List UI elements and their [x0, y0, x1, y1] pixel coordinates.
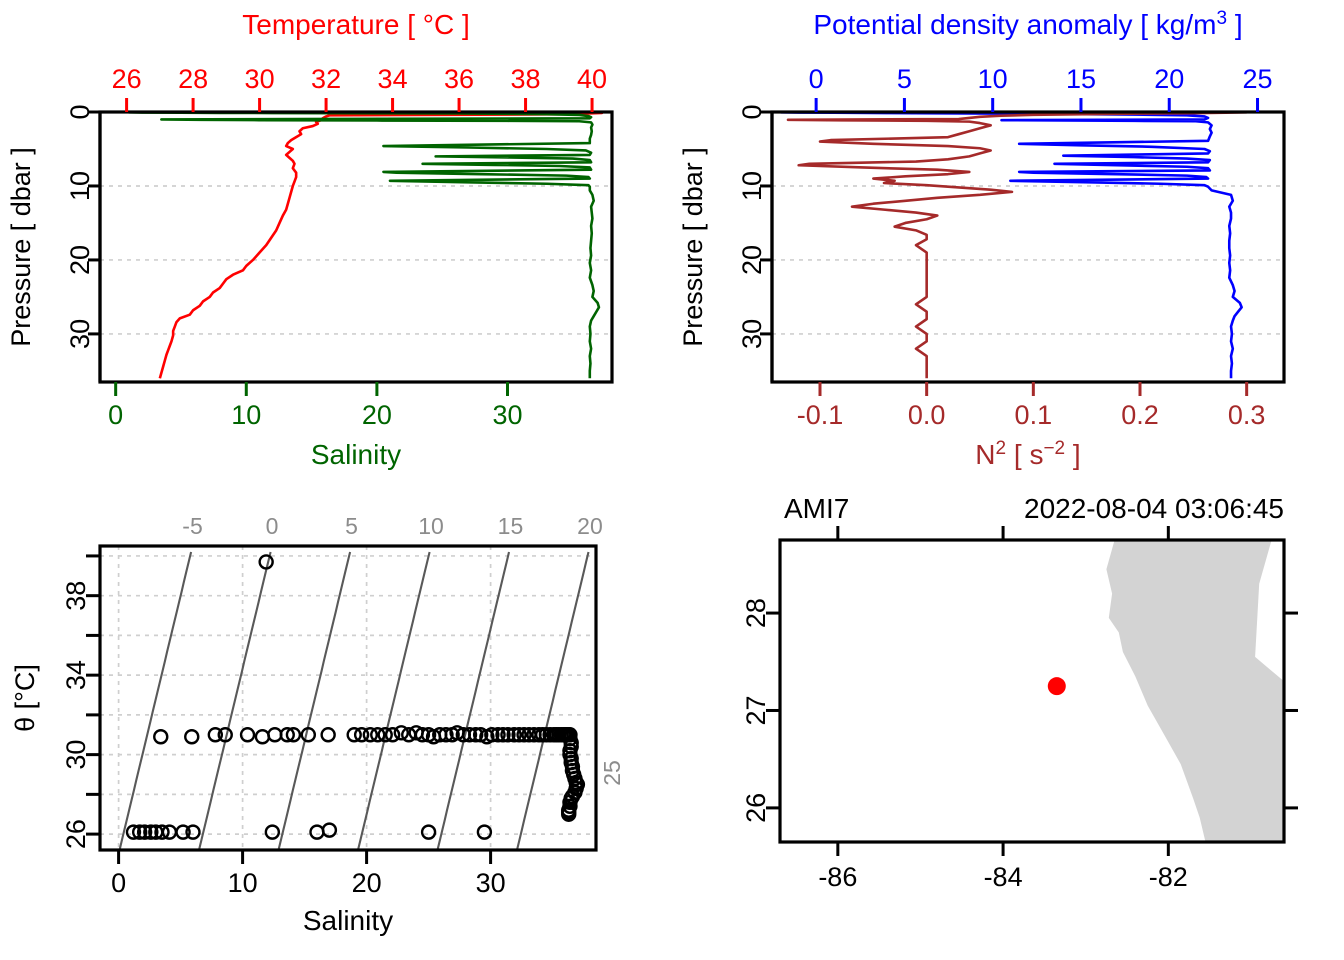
dn-profile-yaxis-title: Pressure [ dbar ]: [678, 147, 708, 347]
dn-profile-xtick-bottom-label: -0.1: [797, 400, 844, 430]
ts-profile-xtick-top-label: 38: [511, 64, 541, 94]
ts-profile-series-salinity: [129, 112, 599, 378]
ts-profile-ytick-label: 30: [65, 319, 95, 349]
n2-title-sup-2: −2: [1043, 438, 1065, 459]
ts-isopycnal-label: -5: [182, 513, 202, 539]
ts-ytick-label: 38: [61, 581, 91, 611]
ts-profile-xtick-top-label: 36: [444, 64, 474, 94]
ts-profile-xaxis-top-title: Temperature [ °C ]: [242, 9, 470, 40]
dn-profile-xtick-top-label: 15: [1066, 64, 1096, 94]
panel-ts-diagram: -5051015202526303438θ [°C]0102030Salinit…: [0, 480, 672, 960]
ts-isopycnal-line: [597, 552, 669, 850]
dn-profile-xtick-bottom-label: 0.0: [908, 400, 946, 430]
ts-profile-xtick-top-label: 28: [178, 64, 208, 94]
ts-ytick-label: 34: [61, 660, 91, 690]
ts-xtick-label: 20: [352, 868, 382, 898]
map-plot-area: -86-84-82262728AMI72022-08-04 03:06:45: [741, 493, 1298, 892]
ts-isopycnal-line: [438, 552, 510, 850]
ts-ytick-label: 30: [61, 740, 91, 770]
density-title-main: Potential density anomaly [ kg/m: [813, 9, 1216, 40]
map-xtick-label: -86: [818, 862, 857, 892]
ts-xtick-label: 30: [476, 868, 506, 898]
ts-plot-box: [100, 546, 596, 850]
ts-profile-plot-box: [100, 112, 612, 382]
ts-xaxis-title: Salinity: [303, 905, 393, 936]
ts-ytick-label: 26: [61, 819, 91, 849]
ts-profile-xaxis-bottom-title: Salinity: [311, 439, 401, 470]
ts-isopycnal-label: 10: [418, 513, 444, 539]
ts-data-point: [154, 730, 167, 743]
dn-profile-xtick-bottom-label: 0.2: [1121, 400, 1159, 430]
dn-profile-xtick-top-label: 0: [809, 64, 824, 94]
ts-profile-yaxis-title: Pressure [ dbar ]: [6, 147, 36, 347]
ts-profile-xtick-bottom-label: 0: [108, 400, 123, 430]
ts-data-point: [256, 730, 269, 743]
ts-profile-xtick-top-label: 40: [577, 64, 607, 94]
ts-isopycnal-line: [517, 552, 589, 850]
map-ytick-label: 28: [741, 598, 771, 628]
ts-profile-xtick-top-label: 32: [311, 64, 341, 94]
n2-title-sup2: 2: [996, 438, 1007, 459]
map-ytick-label: 26: [741, 793, 771, 823]
panel-station-map: -86-84-82262728AMI72022-08-04 03:06:45: [672, 480, 1344, 960]
map-ytick-label: 27: [741, 695, 771, 725]
ts-yaxis-title: θ [°C]: [10, 664, 40, 732]
ts-data-point: [266, 826, 279, 839]
ts-profile-xtick-top-label: 34: [378, 64, 408, 94]
ts-isopycnal-line: [279, 552, 351, 850]
ts-isopycnal-line: [120, 552, 192, 850]
map-title-timestamp: 2022-08-04 03:06:45: [1024, 493, 1284, 524]
ts-data-point: [268, 728, 281, 741]
map-station-marker: [1048, 677, 1066, 695]
dn-profile-series-density: [781, 112, 1242, 378]
n2-title-N: N: [975, 439, 995, 470]
dn-profile-xtick-bottom-label: 0.1: [1015, 400, 1053, 430]
density-title-tail: ]: [1227, 9, 1243, 40]
n2-title-brk: [ s: [1006, 439, 1043, 470]
ts-data-point: [311, 826, 324, 839]
ts-profile-series-temperature: [160, 112, 602, 378]
ts-profile-xtick-top-label: 26: [112, 64, 142, 94]
ts-data-point: [323, 824, 336, 837]
map-title-station: AMI7: [784, 493, 849, 524]
ts-isopycnal-line: [199, 552, 271, 850]
dn-profile-plot-area: 0102030Pressure [ dbar ]0510152025Potent…: [678, 8, 1284, 470]
ts-data-point: [241, 728, 254, 741]
dn-profile-xtick-top-label: 10: [978, 64, 1008, 94]
ts-profile-ytick-label: 20: [65, 245, 95, 275]
ts-isopycnal-line: [358, 552, 430, 850]
ts-isopycnal-label: 20: [577, 513, 603, 539]
dn-profile-ytick-label: 0: [737, 104, 767, 119]
ts-isopycnal-label: 0: [266, 513, 279, 539]
dn-profile-xaxis-top-title: Potential density anomaly [ kg/m3 ]: [813, 8, 1242, 40]
dn-profile-xtick-bottom-label: 0.3: [1228, 400, 1266, 430]
dn-profile-xtick-top-label: 20: [1154, 64, 1184, 94]
ts-profile-ytick-label: 0: [65, 104, 95, 119]
ts-isopycnal-label: 15: [498, 513, 524, 539]
ts-xtick-label: 0: [111, 868, 126, 898]
density-title-sup: 3: [1216, 8, 1227, 29]
ts-plot-area: -5051015202526303438θ [°C]0102030Salinit…: [10, 513, 668, 936]
ts-profile-xtick-top-label: 30: [245, 64, 275, 94]
dn-profile-ytick-label: 10: [737, 171, 767, 201]
ts-scatter-group: [127, 555, 584, 838]
ts-xtick-label: 10: [228, 868, 258, 898]
map-xtick-label: -82: [1149, 862, 1188, 892]
dn-profile-xtick-top-label: 5: [897, 64, 912, 94]
dn-profile-ytick-label: 20: [737, 245, 767, 275]
ts-data-point: [185, 730, 198, 743]
n2-title-tail: ]: [1065, 439, 1081, 470]
ts-data-point: [478, 826, 491, 839]
dn-profile-xtick-top-label: 25: [1242, 64, 1272, 94]
ts-isopycnal-label: 5: [345, 513, 358, 539]
ts-profile-ytick-label: 10: [65, 171, 95, 201]
ts-isopycnal-group: [120, 552, 668, 850]
ts-isopycnal-right-label: 25: [599, 760, 625, 786]
ts-data-point: [422, 826, 435, 839]
ts-profile-plot-area: 0102030Pressure [ dbar ]2628303234363840…: [6, 9, 612, 470]
ts-data-point: [322, 728, 335, 741]
figure-root: 0102030Pressure [ dbar ]2628303234363840…: [0, 0, 1344, 960]
ts-profile-xtick-bottom-label: 30: [492, 400, 522, 430]
panel-temperature-salinity-profile: 0102030Pressure [ dbar ]2628303234363840…: [0, 0, 672, 480]
panel-density-n2-profile: 0102030Pressure [ dbar ]0510152025Potent…: [672, 0, 1344, 480]
dn-profile-xaxis-bottom-title: N2 [ s−2 ]: [975, 438, 1080, 470]
map-land-polygon: [1106, 540, 1284, 842]
ts-profile-xtick-bottom-label: 10: [231, 400, 261, 430]
map-xtick-label: -84: [984, 862, 1023, 892]
dn-profile-series-n2: [788, 112, 1247, 378]
dn-profile-ytick-label: 30: [737, 319, 767, 349]
ts-profile-xtick-bottom-label: 20: [362, 400, 392, 430]
